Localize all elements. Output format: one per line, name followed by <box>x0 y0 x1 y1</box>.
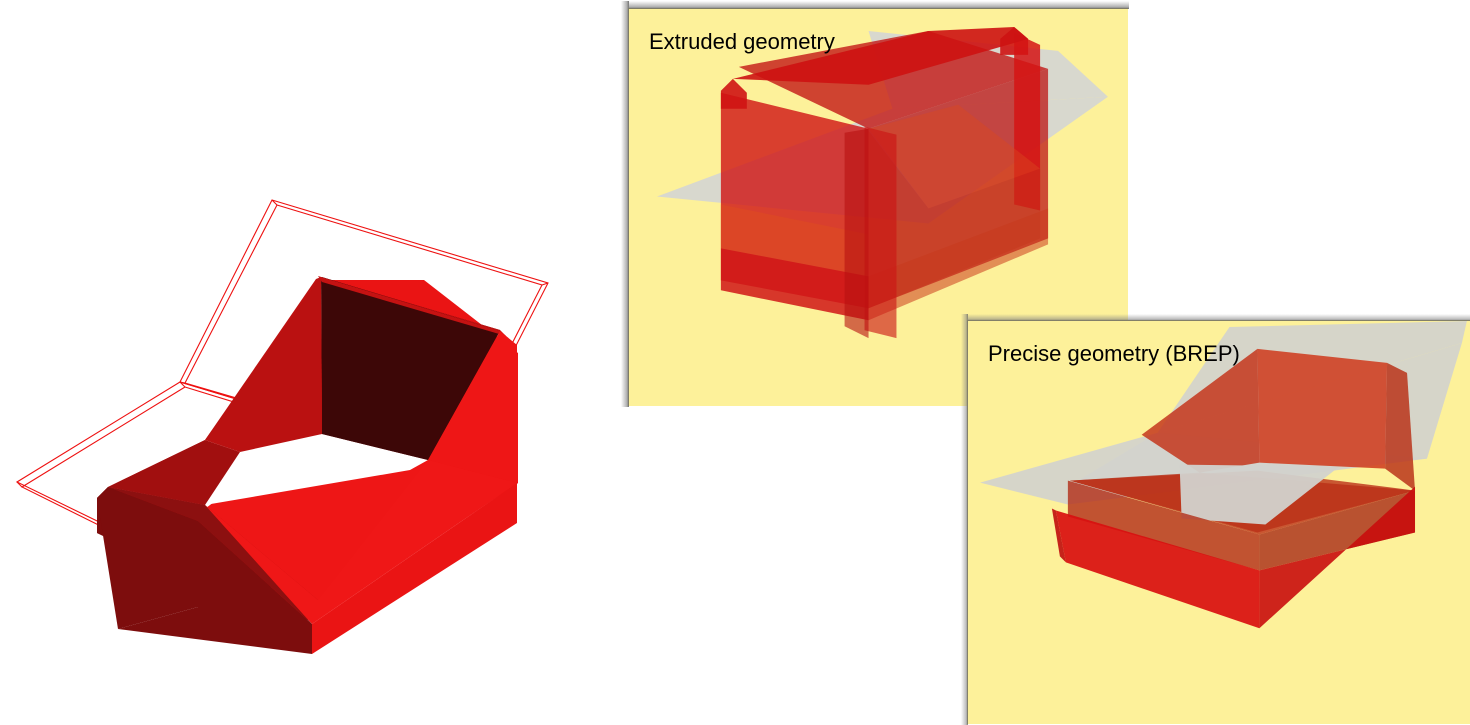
extruded-divider-strip-2 <box>845 129 869 338</box>
precise-geometry-canvas[interactable] <box>968 321 1470 724</box>
main-model-canvas[interactable] <box>0 0 620 724</box>
brep-solid <box>1052 349 1415 628</box>
panel-extruded-label: Extruded geometry <box>649 29 835 55</box>
brep-backrest-face <box>1257 349 1387 469</box>
panel-precise-geometry[interactable]: Precise geometry (BREP) <box>967 320 1470 724</box>
panel-shadow-top <box>968 314 1470 321</box>
solid-ramp-shaded <box>97 276 517 654</box>
extruded-solid <box>721 27 1048 338</box>
panel-shadow-top <box>629 1 1129 9</box>
main-model-figure[interactable] <box>0 0 620 724</box>
panel-brep-label: Precise geometry (BREP) <box>988 341 1240 367</box>
panel-shadow-left <box>621 1 629 407</box>
panel-shadow-left <box>961 314 968 725</box>
screenshot-canvas: Extruded geometry <box>0 0 1470 724</box>
extruded-divider-strip <box>865 127 897 338</box>
